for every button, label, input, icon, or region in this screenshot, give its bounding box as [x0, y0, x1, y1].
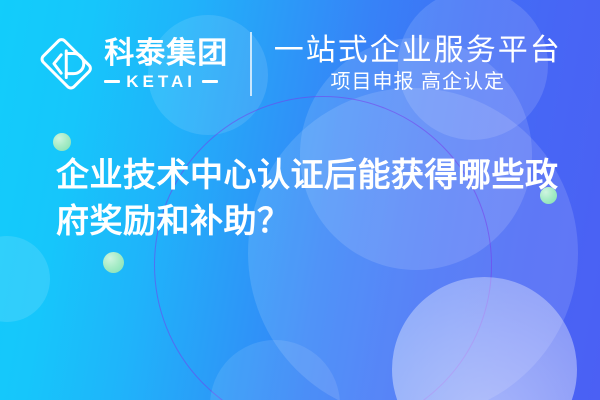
ketai-kd-monogram-logo-icon — [38, 36, 94, 92]
header-divider — [250, 32, 252, 96]
brand-rule-left-icon — [104, 80, 120, 83]
brand-name-en: KETAI — [126, 73, 196, 90]
headline-line-2: 府奖励和补助？ — [56, 198, 556, 244]
tagline-block: 一站式企业服务平台 项目申报 高企认定 — [274, 35, 562, 94]
page-title: 企业技术中心认证后能获得哪些政 府奖励和补助？ — [56, 152, 556, 244]
decorative-circle-bottom-mid — [210, 340, 340, 400]
headline-line-1: 企业技术中心认证后能获得哪些政 — [56, 152, 556, 198]
tagline-main: 一站式企业服务平台 — [274, 35, 562, 67]
decorative-circle-left-edge — [0, 236, 50, 322]
banner-header: 科泰集团 KETAI 一站式企业服务平台 项目申报 高企认定 — [0, 0, 600, 128]
decorative-ring-outline — [154, 96, 492, 400]
promo-banner: 科泰集团 KETAI 一站式企业服务平台 项目申报 高企认定 企业技术中心认证后… — [0, 0, 600, 400]
brand-name-cn: 科泰集团 — [104, 39, 228, 69]
brand-rule-right-icon — [202, 80, 218, 83]
brand-name-en-row: KETAI — [104, 73, 228, 90]
decorative-circle-bottom-right — [392, 277, 577, 400]
tagline-sub: 项目申报 高企认定 — [330, 72, 505, 93]
green-bubble-icon — [53, 133, 71, 151]
decorative-circle-center — [248, 88, 578, 400]
brand-logo[interactable]: 科泰集团 KETAI — [38, 36, 228, 92]
brand-wordmark: 科泰集团 KETAI — [104, 39, 228, 90]
green-bubble-icon — [103, 252, 124, 273]
